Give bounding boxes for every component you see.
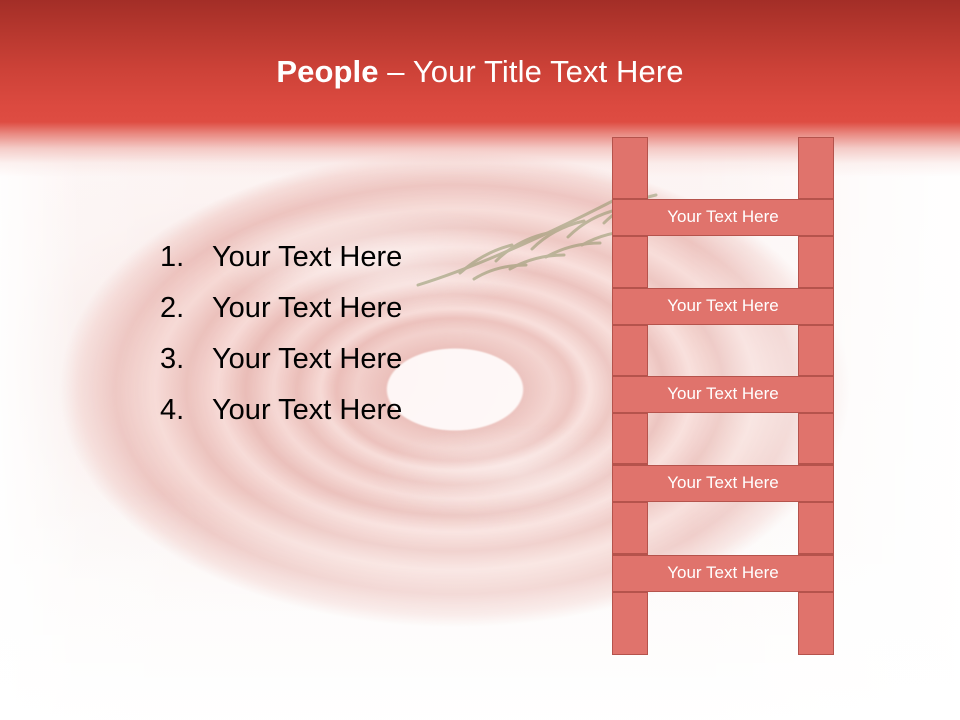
list-item-number: 4. xyxy=(160,385,212,436)
list-item[interactable]: 4. Your Text Here xyxy=(160,385,580,436)
list-item[interactable]: 2. Your Text Here xyxy=(160,283,580,334)
ladder-rail-segment xyxy=(798,502,834,554)
list-item-label: Your Text Here xyxy=(212,385,580,436)
ladder-rail-segment xyxy=(612,413,648,464)
ladder-rail-segment xyxy=(612,236,648,288)
ladder-rail-segment xyxy=(798,592,834,655)
ladder-rung[interactable]: Your Text Here xyxy=(612,465,834,502)
ladder-rail-segment xyxy=(798,236,834,288)
list-item[interactable]: 1. Your Text Here xyxy=(160,232,580,283)
ladder-rung[interactable]: Your Text Here xyxy=(612,555,834,592)
list-item-number: 2. xyxy=(160,283,212,334)
ladder-rung[interactable]: Your Text Here xyxy=(612,376,834,413)
ladder-rail-segment xyxy=(798,137,834,199)
list-item[interactable]: 3. Your Text Here xyxy=(160,334,580,385)
ladder-rail-segment xyxy=(798,413,834,464)
ladder-rail-segment xyxy=(798,325,834,376)
ladder-rail-segment xyxy=(612,137,648,199)
title-separator: – xyxy=(379,54,413,89)
numbered-list: 1. Your Text Here 2. Your Text Here 3. Y… xyxy=(160,232,580,436)
ladder-rung[interactable]: Your Text Here xyxy=(612,288,834,325)
title-rest-part: Your Title Text Here xyxy=(413,54,684,89)
list-item-label: Your Text Here xyxy=(212,283,580,334)
list-item-label: Your Text Here xyxy=(212,334,580,385)
ladder-diagram: Your Text Here Your Text Here Your Text … xyxy=(612,137,834,655)
ladder-rail-segment xyxy=(612,502,648,554)
ladder-rail-segment xyxy=(612,592,648,655)
presentation-slide: People – Your Title Text Here 1. Your Te… xyxy=(0,0,960,720)
ladder-rung[interactable]: Your Text Here xyxy=(612,199,834,236)
title-bold-part: People xyxy=(276,54,378,89)
ladder-rail-segment xyxy=(612,325,648,376)
list-item-number: 3. xyxy=(160,334,212,385)
page-title: People – Your Title Text Here xyxy=(0,52,960,92)
list-item-number: 1. xyxy=(160,232,212,283)
list-item-label: Your Text Here xyxy=(212,232,580,283)
